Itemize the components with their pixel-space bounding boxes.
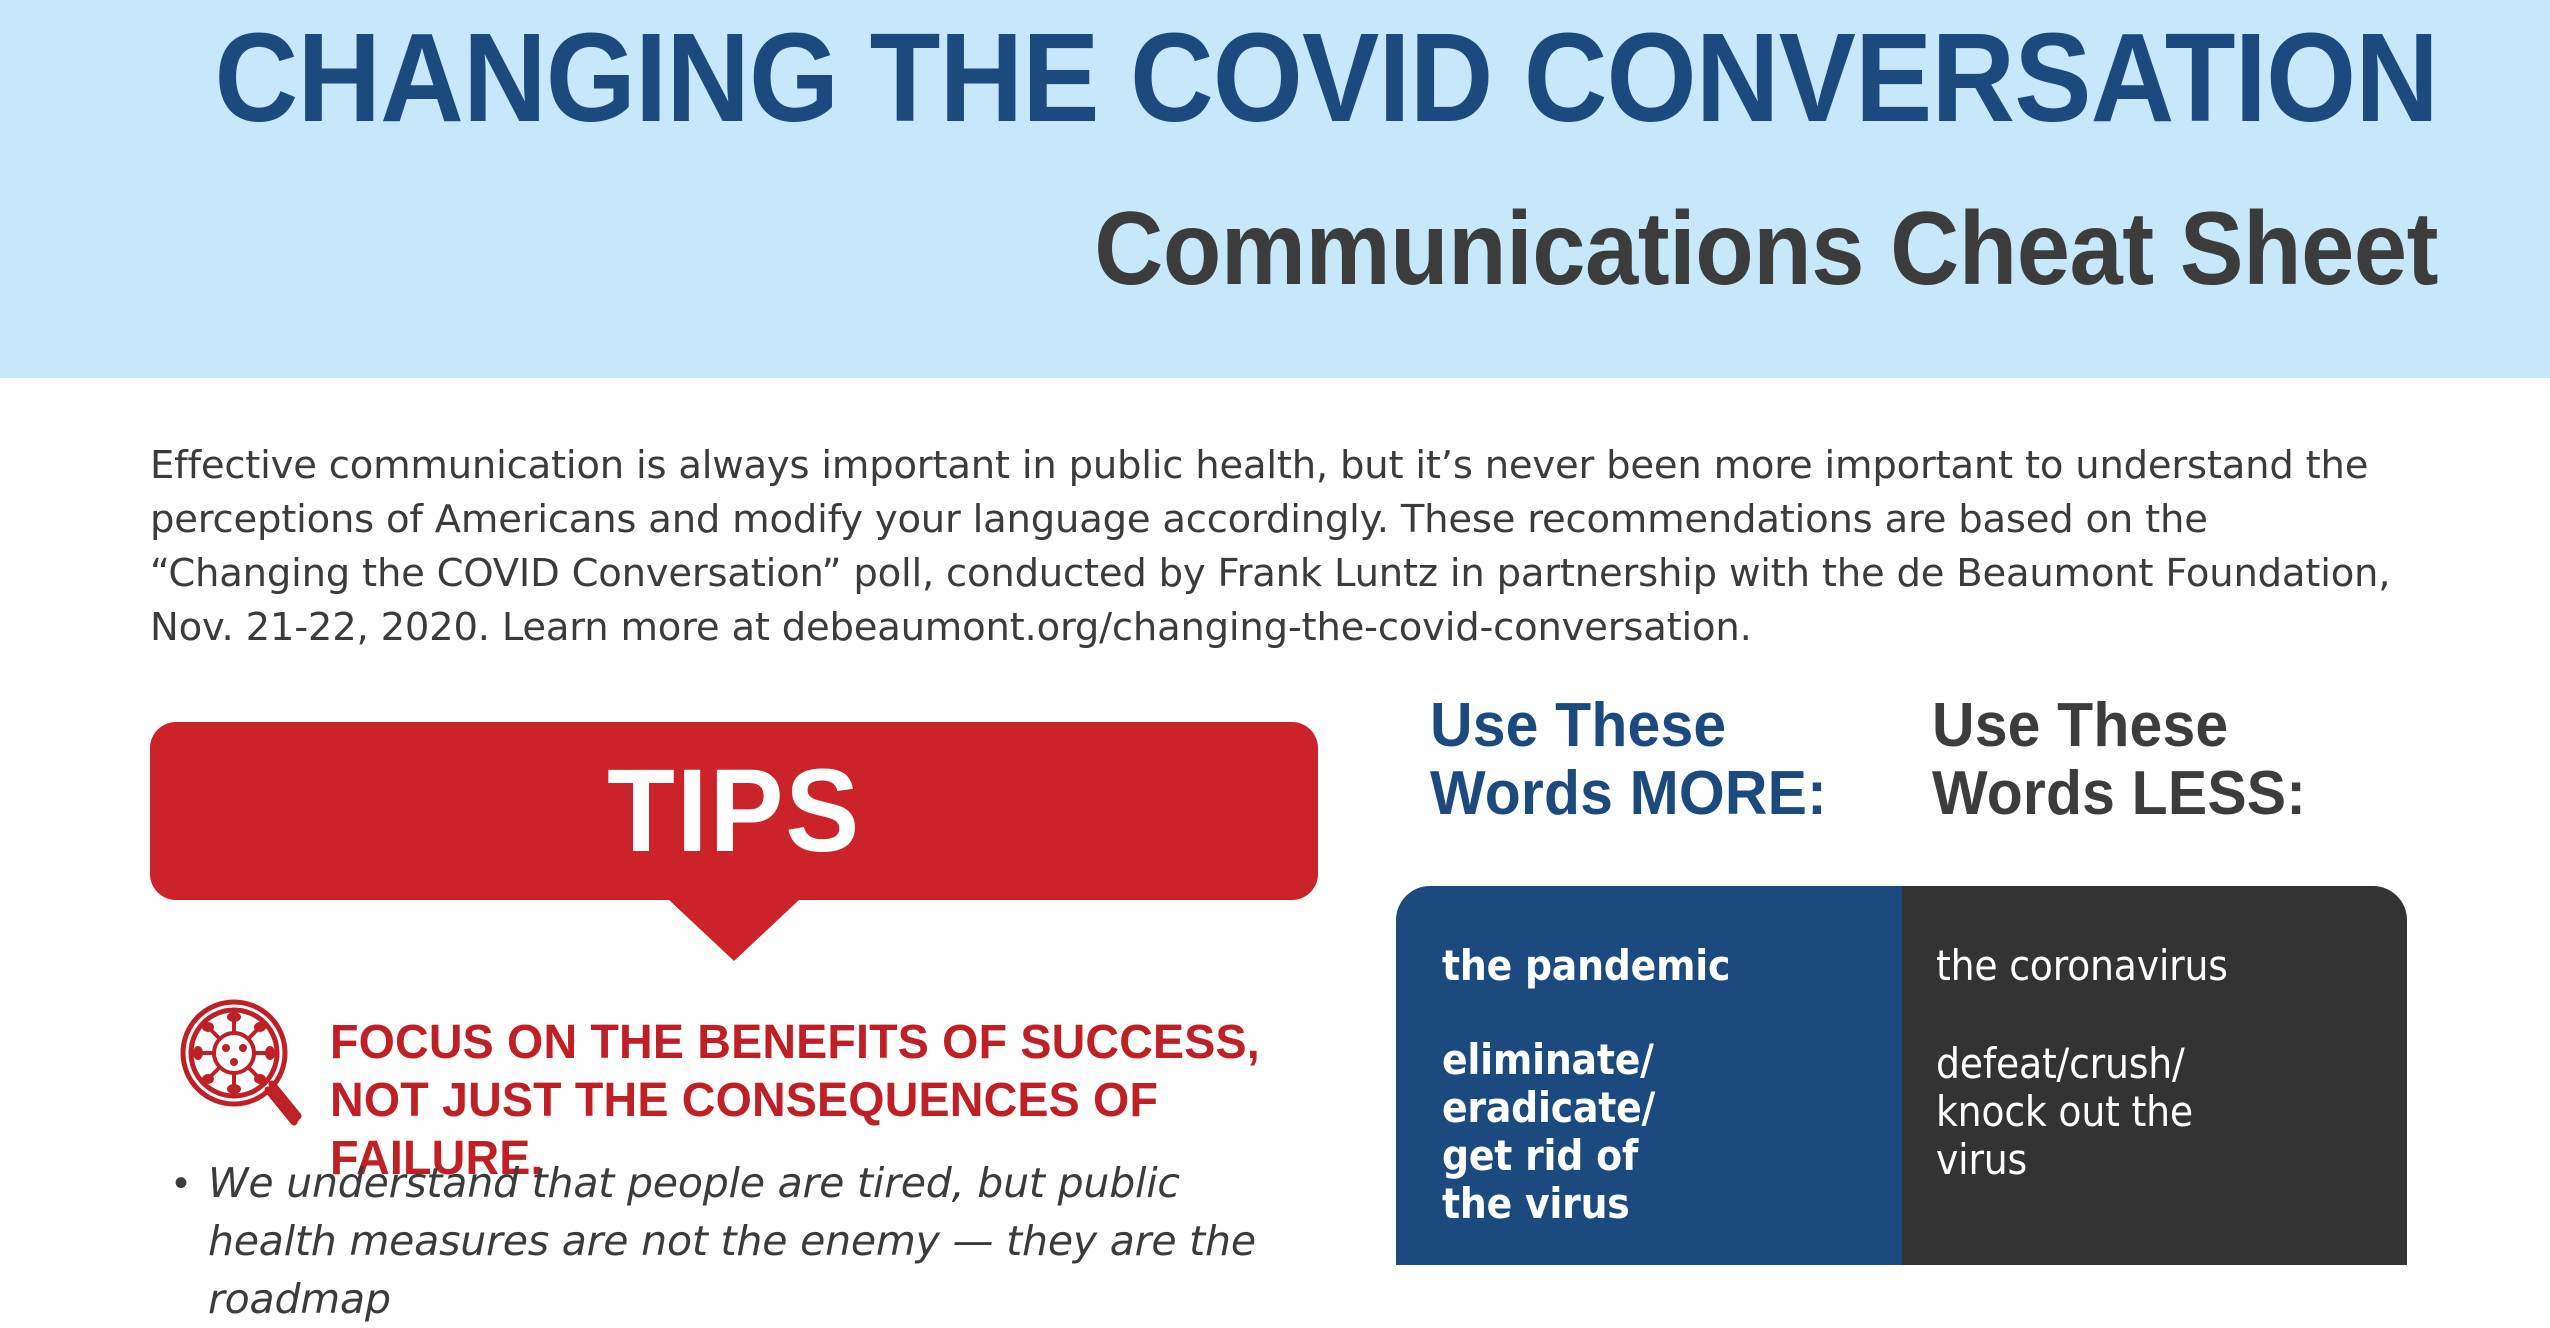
word-cell-less-2: defeat/crush/ knock out the virus: [1936, 1040, 2407, 1184]
tips-banner: TIPS: [150, 722, 1318, 900]
tip-bullet-item: • We understand that people are tired, b…: [174, 1154, 1304, 1328]
page-subtitle: Communications Cheat Sheet: [195, 196, 2438, 302]
bullet-marker: •: [174, 1154, 208, 1328]
header-band: CHANGING THE COVID CONVERSATION Communic…: [0, 0, 2550, 378]
words-less-heading: Use These Words LESS:: [1932, 692, 2306, 828]
page-title: CHANGING THE COVID CONVERSATION: [195, 14, 2438, 143]
intro-paragraph: Effective communication is always import…: [150, 439, 2410, 655]
tips-banner-pointer: [668, 899, 800, 961]
tips-section: TIPS: [150, 722, 1318, 900]
words-more-column: the pandemic eliminate/ eradicate/ get r…: [1396, 886, 1902, 1265]
word-cell-more-2: eliminate/ eradicate/ get rid of the vir…: [1442, 1036, 1902, 1228]
word-cell-less-1: the coronavirus: [1936, 942, 2407, 990]
virus-magnifier-icon: [176, 998, 308, 1138]
words-comparison-table: the pandemic eliminate/ eradicate/ get r…: [1396, 886, 2407, 1265]
tip-bullet-text: We understand that people are tired, but…: [208, 1154, 1304, 1328]
tips-banner-label: TIPS: [607, 752, 861, 870]
words-less-column: the coronavirus defeat/crush/ knock out …: [1902, 886, 2407, 1265]
word-cell-more-1: the pandemic: [1442, 942, 1902, 990]
words-more-heading: Use These Words MORE:: [1430, 692, 1827, 828]
